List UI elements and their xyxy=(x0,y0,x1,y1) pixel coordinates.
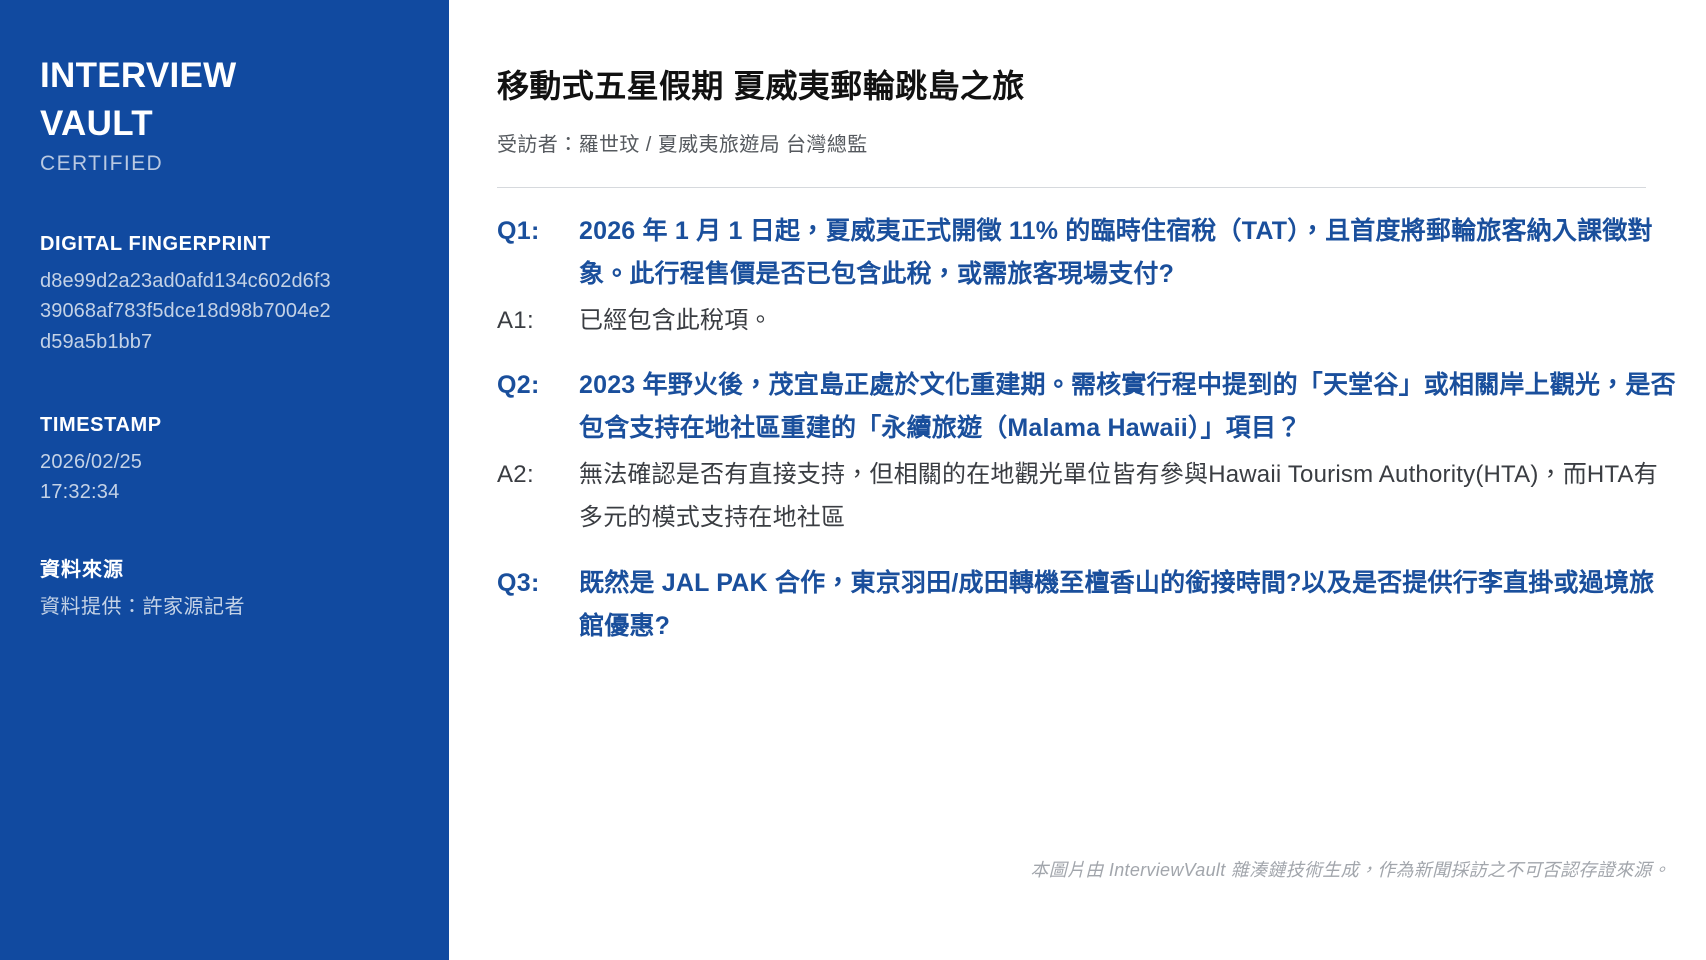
timestamp-date: 2026/02/25 xyxy=(40,447,340,477)
timestamp-label: TIMESTAMP xyxy=(40,413,409,437)
fingerprint-label: DIGITAL FINGERPRINT xyxy=(40,232,409,256)
qa-answer-row: A1: 已經包含此稅項。 xyxy=(497,300,1706,343)
qa-question-row: Q2: 2023 年野火後，茂宜島正處於文化重建期。需核實行程中提到的「天堂谷」… xyxy=(497,364,1706,450)
question-tag: Q1: xyxy=(497,210,579,253)
qa-list: Q1: 2026 年 1 月 1 日起，夏威夷正式開徵 11% 的臨時住宿稅（T… xyxy=(497,210,1706,648)
source-label: 資料來源 xyxy=(40,558,409,582)
question-tag: Q2: xyxy=(497,364,579,407)
source-section: 資料來源 資料提供：許家源記者 xyxy=(40,558,409,622)
answer-text: 無法確認是否有直接支持，但相關的在地觀光單位皆有參與Hawaii Tourism… xyxy=(579,454,1679,539)
qa-question-row: Q3: 既然是 JAL PAK 合作，東京羽田/成田轉機至檀香山的銜接時間?以及… xyxy=(497,562,1706,648)
qa-question-row: Q1: 2026 年 1 月 1 日起，夏威夷正式開徵 11% 的臨時住宿稅（T… xyxy=(497,210,1706,296)
footer-disclaimer: 本圖片由 InterviewVault 雜湊鏈技術生成，作為新聞採訪之不可否認存… xyxy=(1030,856,1670,882)
source-value: 資料提供：許家源記者 xyxy=(40,592,340,622)
timestamp-section: TIMESTAMP 2026/02/25 17:32:34 xyxy=(40,413,409,508)
answer-text: 已經包含此稅項。 xyxy=(579,300,1679,343)
question-text: 既然是 JAL PAK 合作，東京羽田/成田轉機至檀香山的銜接時間?以及是否提供… xyxy=(579,562,1679,648)
sidebar: INTERVIEW VAULT CERTIFIED DIGITAL FINGER… xyxy=(0,0,449,960)
brand-title: INTERVIEW VAULT xyxy=(40,52,300,149)
interview-vault-card: INTERVIEW VAULT CERTIFIED DIGITAL FINGER… xyxy=(0,0,1706,960)
qa-answer-row: A2: 無法確認是否有直接支持，但相關的在地觀光單位皆有參與Hawaii Tou… xyxy=(497,454,1706,539)
answer-tag: A2: xyxy=(497,454,579,495)
header-divider xyxy=(497,187,1646,188)
brand-block: INTERVIEW VAULT CERTIFIED xyxy=(40,52,409,176)
timestamp-time: 17:32:34 xyxy=(40,477,340,507)
content-panel: 移動式五星假期 夏威夷郵輪跳島之旅 受訪者：羅世玟 / 夏威夷旅遊局 台灣總監 … xyxy=(449,0,1706,960)
fingerprint-section: DIGITAL FINGERPRINT d8e99d2a23ad0afd134c… xyxy=(40,232,409,357)
interviewee-line: 受訪者：羅世玟 / 夏威夷旅遊局 台灣總監 xyxy=(497,131,1706,159)
answer-tag: A1: xyxy=(497,300,579,341)
question-text: 2026 年 1 月 1 日起，夏威夷正式開徵 11% 的臨時住宿稅（TAT），… xyxy=(579,210,1679,296)
question-text: 2023 年野火後，茂宜島正處於文化重建期。需核實行程中提到的「天堂谷」或相關岸… xyxy=(579,364,1679,450)
page-title: 移動式五星假期 夏威夷郵輪跳島之旅 xyxy=(497,65,1706,108)
question-tag: Q3: xyxy=(497,562,579,605)
fingerprint-value: d8e99d2a23ad0afd134c602d6f339068af783f5d… xyxy=(40,266,340,357)
brand-subtitle-certified: CERTIFIED xyxy=(40,151,409,176)
